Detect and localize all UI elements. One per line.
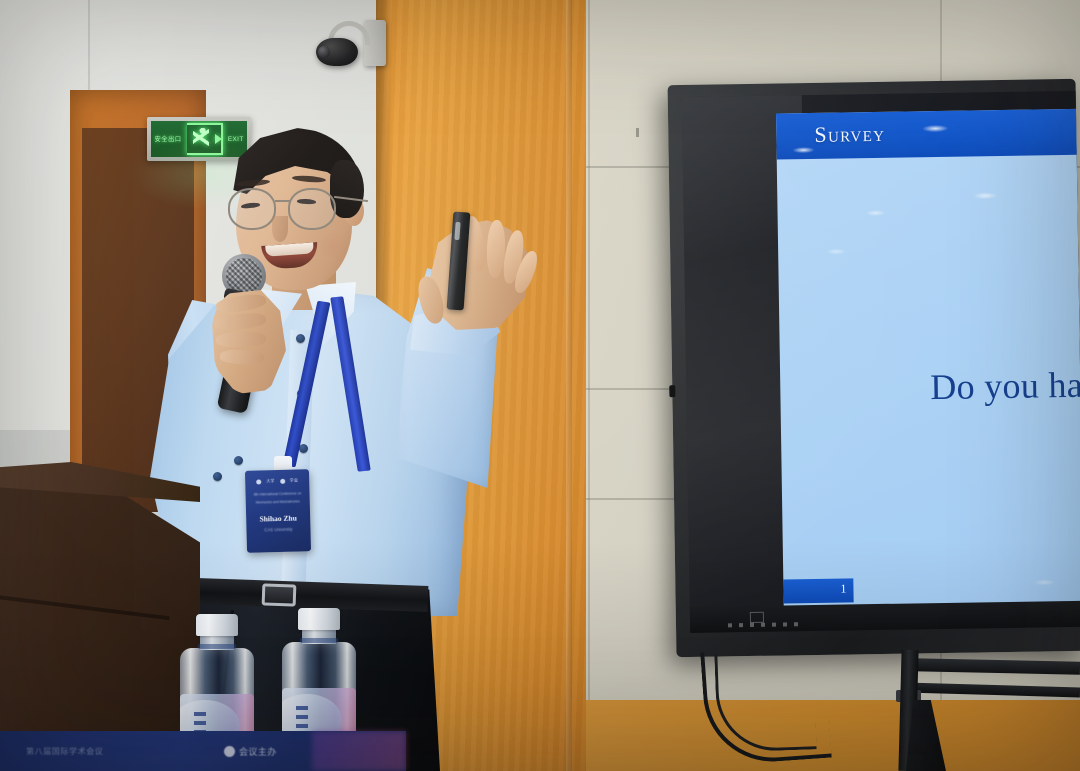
banner-brand-label: 会议主办 — [239, 745, 277, 758]
belt-buckle — [262, 583, 297, 606]
bottle-cap[interactable] — [298, 608, 340, 630]
bottle-neck-ring — [300, 638, 338, 643]
badge-logo-mark-icon — [256, 479, 261, 484]
presenter-cheek — [318, 232, 348, 260]
eyeglass-temple — [334, 196, 368, 203]
finger — [220, 349, 264, 365]
badge-affiliation: CAS University — [246, 526, 310, 533]
presenter-nose — [272, 216, 288, 242]
eyeglasses — [226, 186, 372, 232]
bottle-neck-ring — [198, 644, 236, 649]
presenter-teeth — [265, 242, 314, 256]
eyeglass-lens — [228, 188, 276, 230]
event-banner: 第八届国际学术会议 会议主办 — [0, 731, 406, 771]
bottle-cap[interactable] — [196, 614, 238, 636]
badge-logo-mark-icon — [280, 478, 285, 483]
banner-logo: 会议主办 — [224, 745, 277, 758]
banner-event-text: 第八届国际学术会议 — [26, 746, 103, 757]
badge-conference-line-1: 8th International Conference on — [252, 491, 304, 497]
conference-badge: 大学 学会 8th International Conference on Me… — [245, 469, 311, 553]
badge-attendee-name: Shihao Zhu — [246, 513, 310, 524]
presentation-photo-scene: 安全出口 EXIT Survey Do you have l 1 — [0, 0, 1080, 771]
badge-logo-left-label: 大学 — [266, 478, 275, 484]
badge-logo-right-label: 学会 — [290, 477, 299, 483]
shirt-button — [296, 334, 305, 343]
shirt-cuff-button — [234, 456, 243, 465]
shirt-cuff-button — [213, 472, 222, 481]
badge-logos: 大学 学会 — [245, 477, 309, 485]
banner-accent-graphic — [312, 731, 406, 771]
badge-conference-line-2: Mechanics and Mechatronics — [252, 499, 304, 505]
eyeglass-bridge — [275, 200, 290, 202]
banner-logo-mark-icon — [224, 746, 235, 757]
shirt-button — [299, 444, 308, 453]
eyeglass-lens — [288, 188, 336, 230]
